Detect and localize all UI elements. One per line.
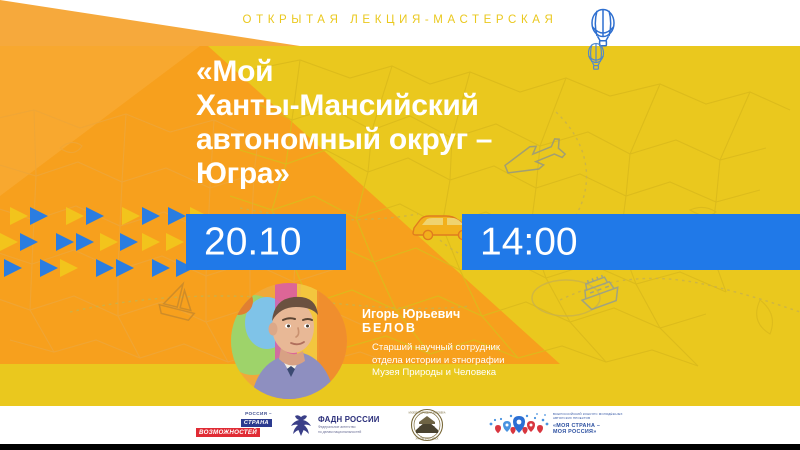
logo-msmr-header-line-2: АВТОРСКИХ ПРОЕКТОВ — [553, 417, 623, 421]
title-line-2: Ханты-Мансийский — [196, 89, 666, 123]
logo-rossiya-strana-vozmozhnostey: РОССИЯ – СТРАНА ВОЗМОЖНОСТЕЙ — [196, 411, 276, 439]
speaker-photo — [231, 283, 347, 399]
speaker-surname: БЕЛОВ — [362, 321, 417, 336]
logo-rsv-line-2: СТРАНА — [241, 419, 272, 427]
museum-seal-icon: МУЗЕЙ ПРИРОДЫ И ЧЕЛОВЕКА ХАНТЫ-МАНСИЙСК — [404, 408, 450, 442]
event-time: 14:00 — [480, 223, 578, 262]
triangle-row-1 — [10, 207, 208, 225]
logo-msmr-header: ВСЕРОССИЙСКИЙ КОНКУРС МОЛОДЁЖНЫХ АВТОРСК… — [553, 413, 623, 421]
logo-msmr-title-line-2: МОЯ РОССИЯ» — [553, 429, 600, 435]
speaker-role-line-3: Музея Природы и Человека — [372, 367, 504, 380]
double-headed-eagle-icon — [288, 413, 314, 439]
event-date-banner: 20.10 — [186, 214, 346, 270]
speaker-role-line-1: Старший научный сотрудник — [372, 342, 504, 355]
logo-fadn-rossii: ФАДН РОССИИ Федеральное агентство по дел… — [288, 411, 388, 439]
svg-text:МУЗЕЙ ПРИРОДЫ И ЧЕЛОВЕКА: МУЗЕЙ ПРИРОДЫ И ЧЕЛОВЕКА — [409, 411, 446, 414]
logo-moya-strana-moya-rossiya: ВСЕРОССИЙСКИЙ КОНКУРС МОЛОДЁЖНЫХ АВТОРСК… — [487, 410, 607, 440]
title-line-4: Югра» — [196, 157, 666, 191]
page-title: «Мой Ханты-Мансийский автономный округ –… — [196, 55, 666, 191]
title-line-3: автономный округ – — [196, 123, 666, 157]
logo-fadn-subtitle: Федеральное агентство по делам националь… — [318, 425, 361, 434]
logo-fadn-subtitle-line-1: Федеральное агентство — [318, 425, 361, 430]
footer-band — [0, 406, 800, 444]
triangle-pattern — [0, 205, 215, 285]
lecture-poster: ОТКРЫТАЯ ЛЕКЦИЯ-МАСТЕРСКАЯ «Мой Ханты-Ма… — [0, 0, 800, 450]
event-time-banner: 14:00 — [462, 214, 800, 270]
logo-rsv-line-1: РОССИЯ – — [245, 411, 272, 416]
speaker-role-line-2: отдела истории и этнографии — [372, 355, 504, 368]
triangle-row-3 — [4, 259, 194, 277]
logo-museum-seal: МУЗЕЙ ПРИРОДЫ И ЧЕЛОВЕКА ХАНТЫ-МАНСИЙСК — [404, 408, 450, 442]
triangle-row-2 — [0, 233, 206, 251]
logo-rsv-line-3: ВОЗМОЖНОСТЕЙ — [196, 428, 260, 437]
speaker-role: Старший научный сотрудник отдела истории… — [372, 342, 504, 380]
logo-fadn-subtitle-line-2: по делам национальностей — [318, 430, 361, 435]
logo-msmr-title: «МОЯ СТРАНА – МОЯ РОССИЯ» — [553, 423, 600, 436]
speaker-name: Игорь Юрьевич — [362, 307, 460, 322]
logo-fadn-title: ФАДН РОССИИ — [318, 415, 380, 424]
bottom-bar — [0, 444, 800, 450]
svg-text:ХАНТЫ-МАНСИЙСК: ХАНТЫ-МАНСИЙСК — [416, 438, 439, 441]
title-line-1: «Мой — [196, 55, 666, 89]
event-kicker: ОТКРЫТАЯ ЛЕКЦИЯ-МАСТЕРСКАЯ — [0, 14, 800, 26]
speaker-avatar — [231, 283, 347, 399]
map-pins-icon — [487, 412, 551, 440]
event-date: 20.10 — [204, 223, 302, 262]
